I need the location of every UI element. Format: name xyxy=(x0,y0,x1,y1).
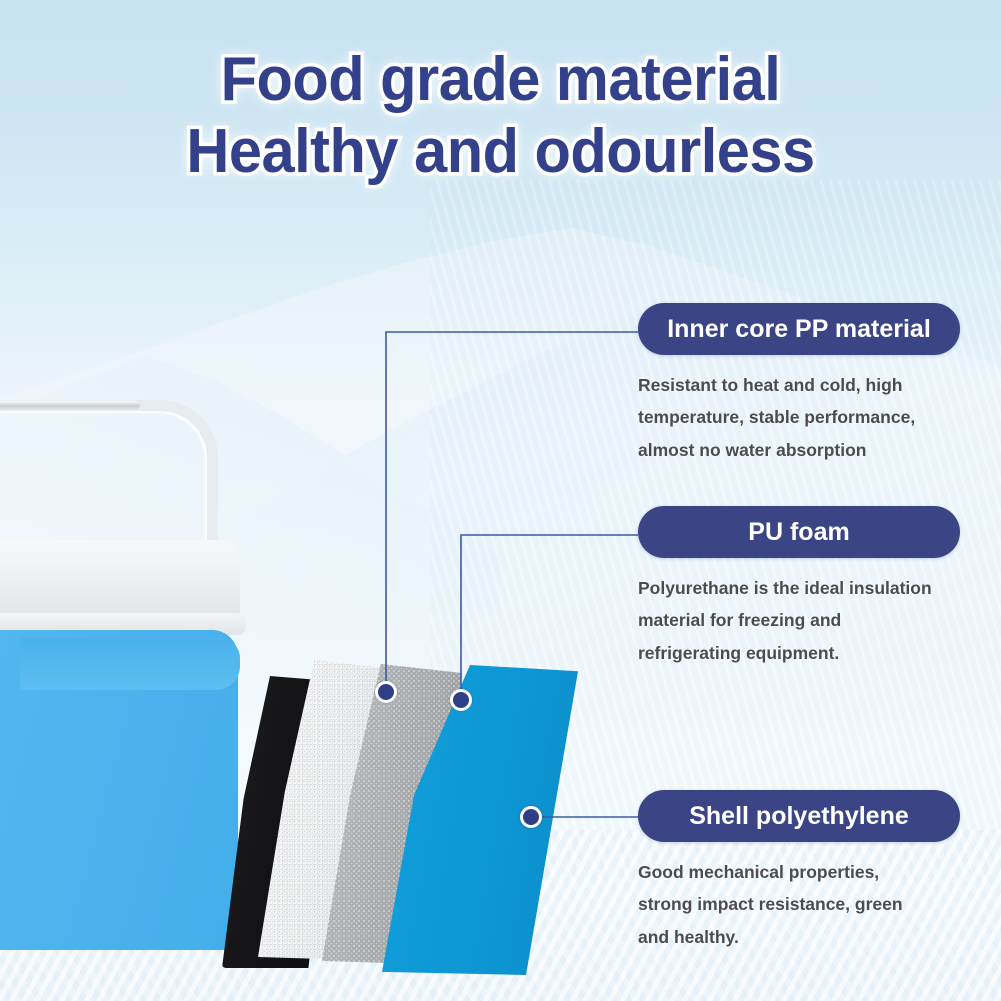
callout-shell-polyethylene: Shell polyethylene Good mechanical prope… xyxy=(638,790,960,953)
title-line-2: Healthy and odourless xyxy=(20,116,981,188)
cooler-body-notch xyxy=(20,638,240,690)
callout-body-line: strong impact resistance, green xyxy=(638,888,960,920)
callout-body-line: Good mechanical properties, xyxy=(638,856,960,888)
callout-body-line: Polyurethane is the ideal insulation xyxy=(638,572,960,604)
callout-body-shell-polyethylene: Good mechanical properties, strong impac… xyxy=(638,856,960,953)
callout-body-line: material for freezing and xyxy=(638,604,960,636)
callout-body-line: Resistant to heat and cold, high xyxy=(638,369,960,401)
title-line-1: Food grade material xyxy=(20,44,981,116)
connector-dot-inner-core xyxy=(375,681,397,703)
callout-heading-pu-foam: PU foam xyxy=(638,506,960,558)
callout-heading-inner-core: Inner core PP material xyxy=(638,303,960,355)
connector-dot-shell xyxy=(520,806,542,828)
cooler-lid xyxy=(0,540,240,622)
callout-body-line: refrigerating equipment. xyxy=(638,637,960,669)
callout-body-inner-core: Resistant to heat and cold, high tempera… xyxy=(638,369,960,466)
poster-title: Food grade material Healthy and odourles… xyxy=(0,44,1001,188)
cooler-handle-bar xyxy=(0,401,140,410)
callout-inner-core: Inner core PP material Resistant to heat… xyxy=(638,303,960,466)
callout-body-line: and healthy. xyxy=(638,921,960,953)
infographic-poster: Food grade material Healthy and odourles… xyxy=(0,0,1001,1001)
connector-line-inner-core xyxy=(386,332,638,692)
connector-dot-pu-foam xyxy=(450,689,472,711)
callout-pu-foam: PU foam Polyurethane is the ideal insula… xyxy=(638,506,960,669)
callout-heading-shell-polyethylene: Shell polyethylene xyxy=(638,790,960,842)
callout-body-line: temperature, stable performance, xyxy=(638,401,960,433)
callout-body-line: almost no water absorption xyxy=(638,434,960,466)
callout-body-pu-foam: Polyurethane is the ideal insulation mat… xyxy=(638,572,960,669)
